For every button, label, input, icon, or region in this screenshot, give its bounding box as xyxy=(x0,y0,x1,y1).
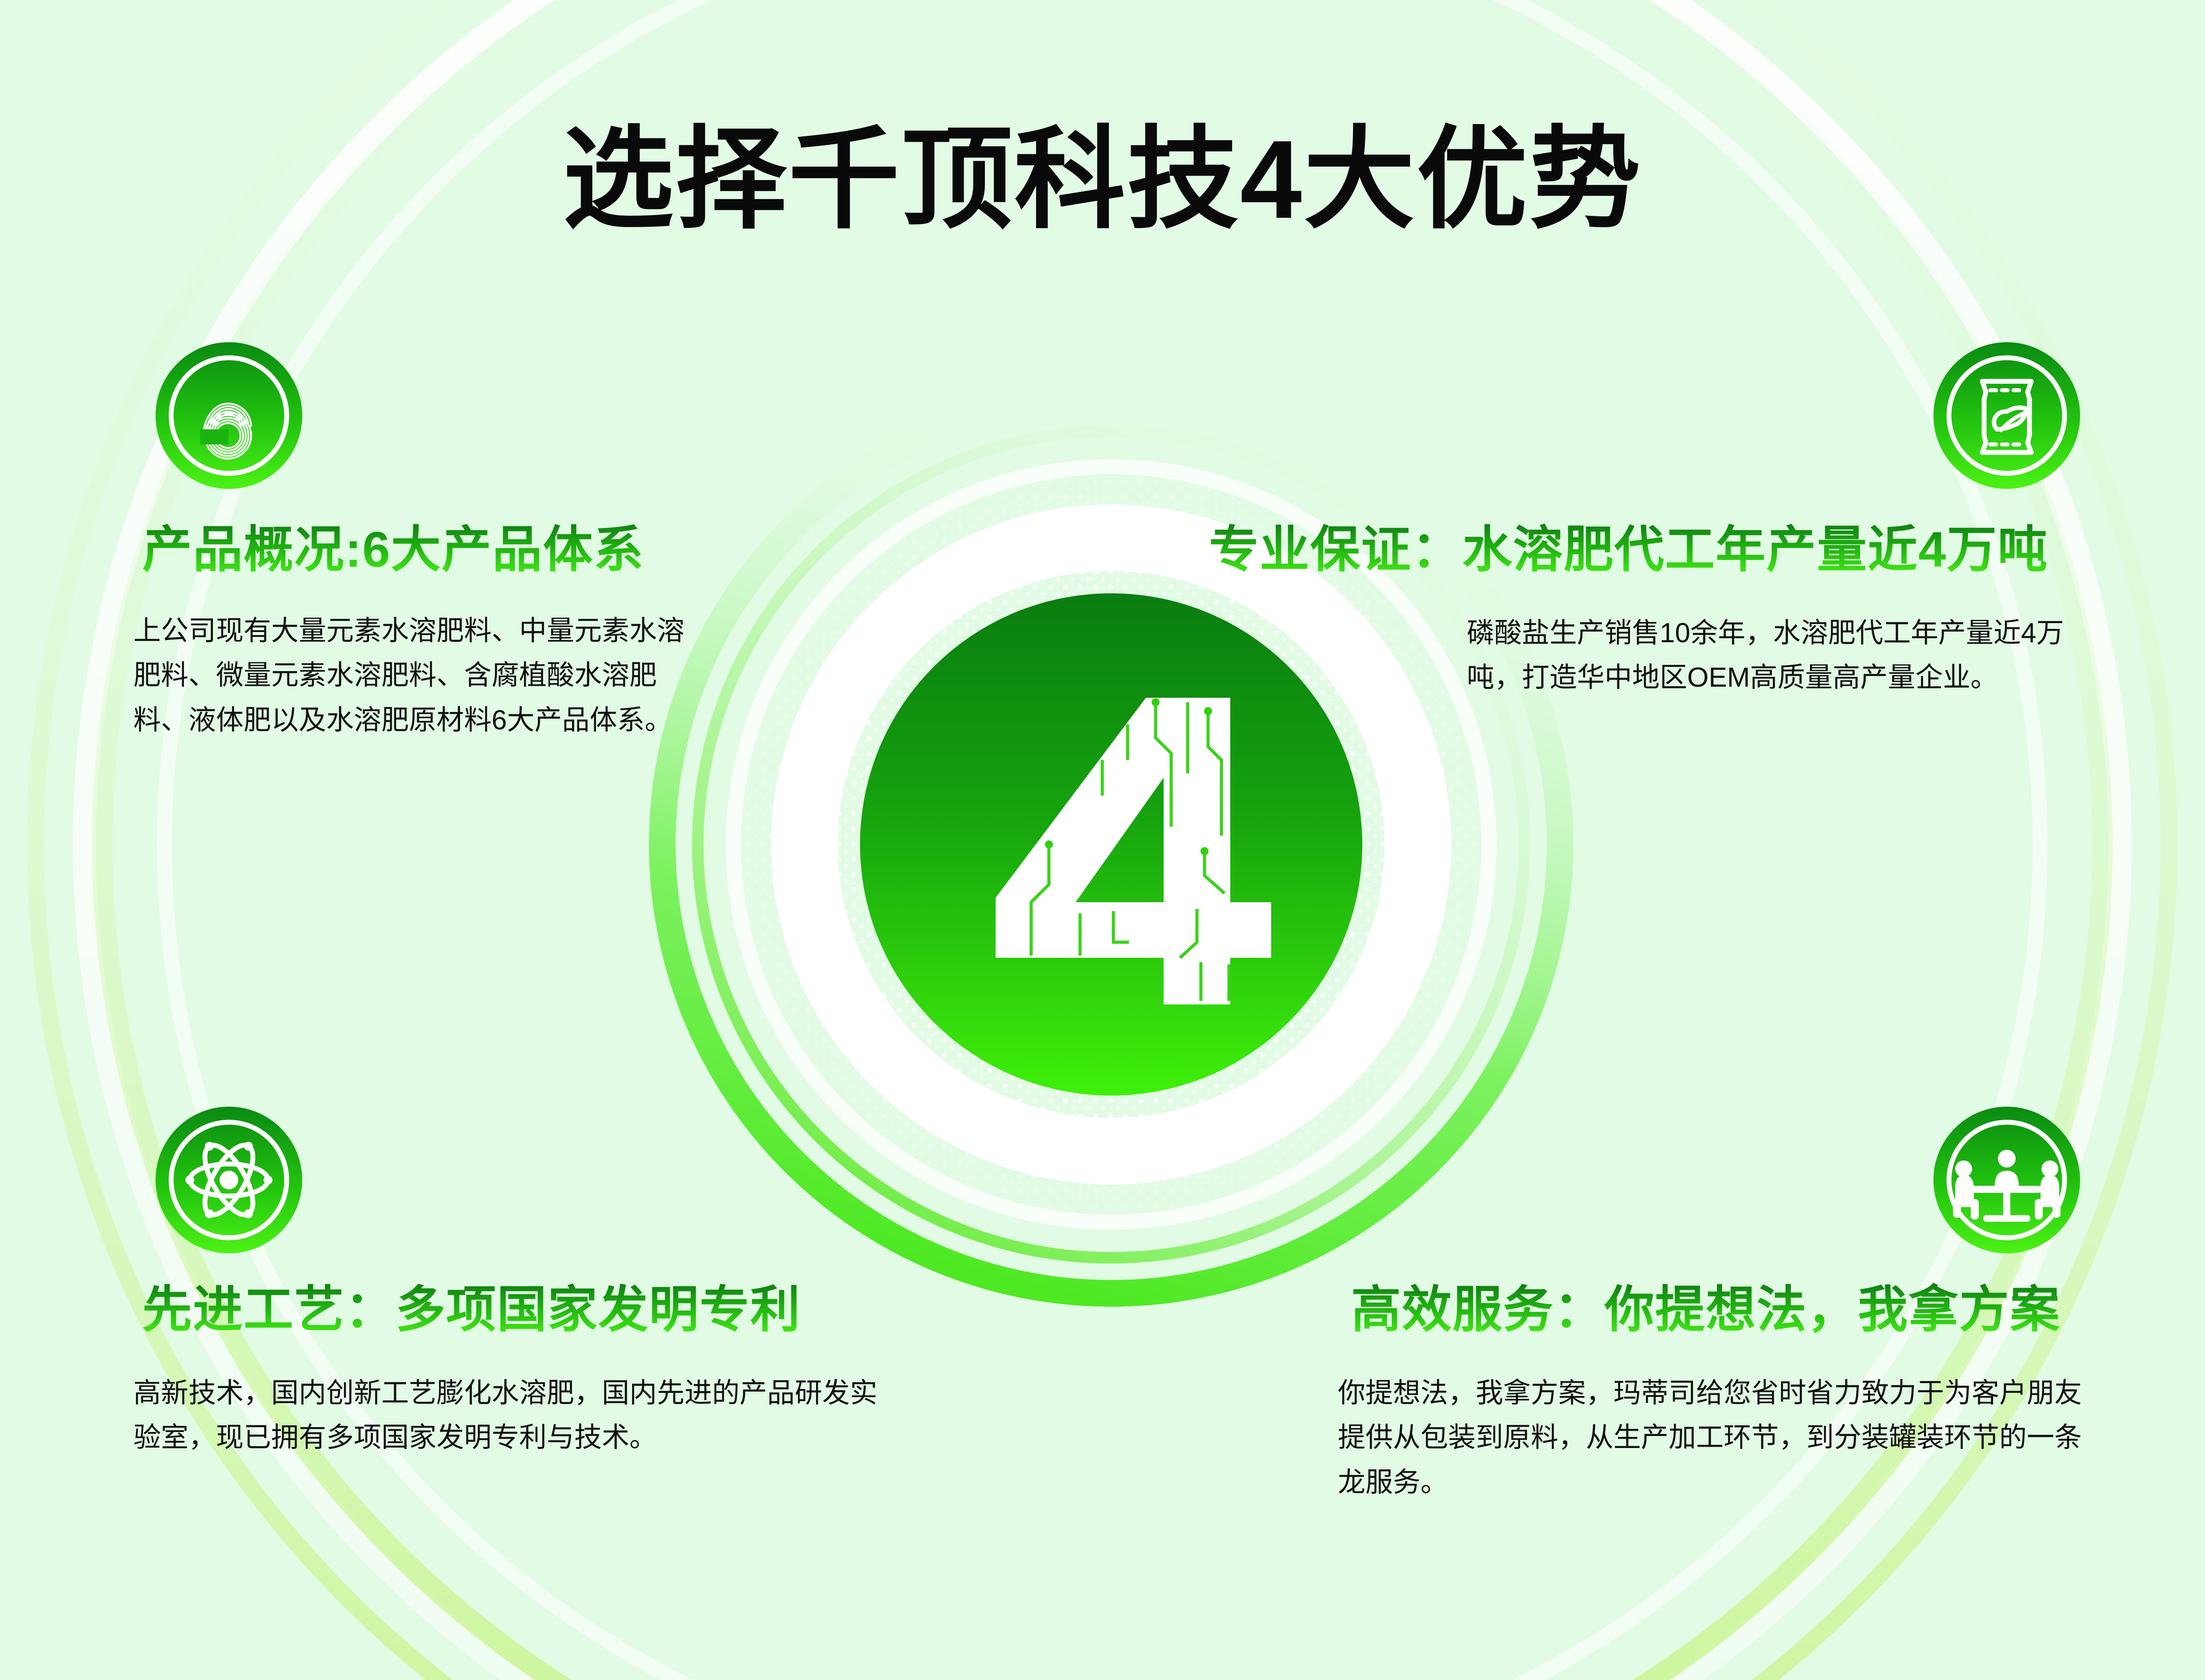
feature-body-text: 上公司现有大量元素水溶肥料、中量元素水溶肥料、微量元素水溶肥料、含腐植酸水溶肥料… xyxy=(133,609,689,743)
feature-heading: 高效服务：你提想法，我拿方案 xyxy=(1351,1282,2061,1337)
feature-heading: 先进工艺：多项国家发明专利 xyxy=(142,1282,801,1337)
fertilizer-bag-icon[interactable] xyxy=(1933,342,2080,489)
feature-body-text: 你提想法，我拿方案，玛蒂司给您省时省力致力于为客户朋友提供从包装到原料，从生产加… xyxy=(1338,1371,2102,1505)
feature-body-text: 高新技术，国内创新工艺膨化水溶肥，国内先进的产品研发实验室，现已拥有多项国家发明… xyxy=(133,1371,884,1460)
meeting-table-icon[interactable] xyxy=(1933,1107,2080,1253)
feature-heading: 专业保证：水溶肥代工年产量近4万吨 xyxy=(1209,522,2048,577)
center-ring-svg xyxy=(578,311,1645,1378)
feature-heading: 产品概况:6大产品体系 xyxy=(142,522,644,577)
six-rings-icon[interactable] xyxy=(156,342,302,489)
page-title: 选择千顶科技4大优势 xyxy=(0,89,2205,250)
atom-icon-svg xyxy=(156,1107,302,1253)
fertilizer-bag-icon-svg xyxy=(1933,342,2080,489)
atom-icon[interactable] xyxy=(156,1107,302,1253)
center-ring-graphic xyxy=(578,311,1645,1378)
six-rings-icon-svg xyxy=(156,342,302,489)
feature-body-text: 磷酸盐生产销售10余年，水溶肥代工年产量近4万吨，打造华中地区OEM高质量高产量… xyxy=(1467,611,2102,700)
meeting-table-icon-svg xyxy=(1933,1107,2080,1253)
